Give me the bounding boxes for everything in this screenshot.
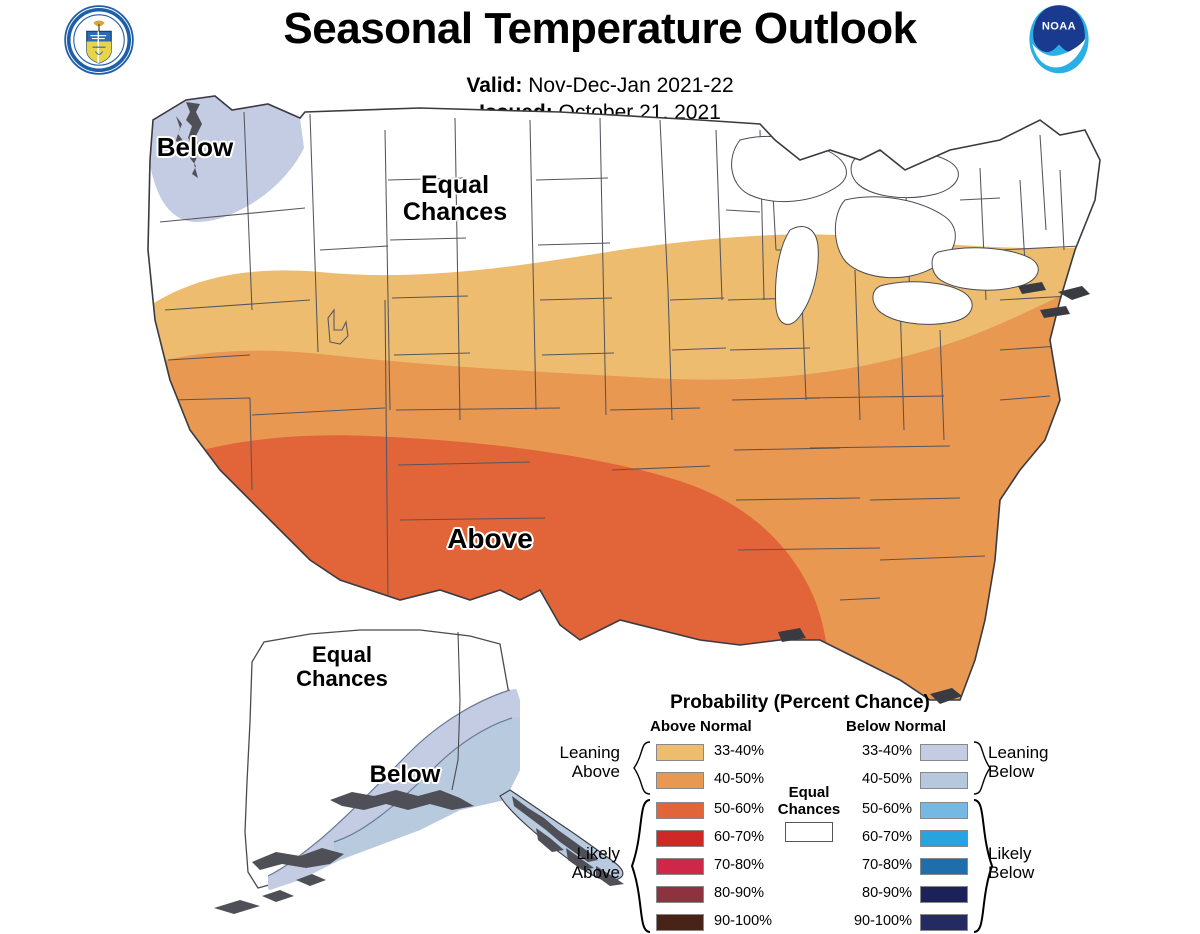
legend-swatch-above-50-60[interactable] [656, 802, 704, 819]
legend-range-below-33-40: 33-40% [850, 743, 912, 759]
legend-swatch-below-50-60[interactable] [920, 802, 968, 819]
legend-swatch-below-90-100[interactable] [920, 914, 968, 931]
legend-swatch-above-80-90[interactable] [656, 886, 704, 903]
legend-range-above-70-80: 70-80% [714, 857, 764, 873]
legend-swatch-below-70-80[interactable] [920, 858, 968, 875]
legend-range-below-60-70: 60-70% [850, 829, 912, 845]
legend-swatch-below-33-40[interactable] [920, 744, 968, 761]
legend-range-above-50-60: 50-60% [714, 801, 764, 817]
map-label-equal-chances-north: Equal Chances [380, 172, 530, 226]
legend-swatch-above-40-50[interactable] [656, 772, 704, 789]
legend-range-below-50-60: 50-60% [850, 801, 912, 817]
legend-bracket-likely-below [972, 798, 998, 934]
legend-heading-below-normal: Below Normal [846, 718, 946, 735]
outlook-map-page: NOAA Seasonal Temperature Outlook Valid:… [0, 0, 1200, 927]
legend-swatch-below-60-70[interactable] [920, 830, 968, 847]
legend-swatch-above-33-40[interactable] [656, 744, 704, 761]
map-label-equal-chances-alaska: Equal Chances [272, 643, 412, 691]
legend-swatch-above-70-80[interactable] [656, 858, 704, 875]
legend-range-below-40-50: 40-50% [850, 771, 912, 787]
legend-swatch-below-80-90[interactable] [920, 886, 968, 903]
legend-bracket-leaning-above [626, 740, 652, 796]
legend-bracket-label-likely-above: Likely Above [520, 844, 620, 882]
map-label-below-northwest: Below [140, 133, 250, 161]
legend-bracket-label-leaning-above: Leaning Above [520, 743, 620, 781]
legend-equal-chances-label: Equal Chances [765, 785, 853, 818]
legend: Probability (Percent Chance) Above Norma… [520, 692, 1080, 927]
legend-range-above-40-50: 40-50% [714, 771, 764, 787]
legend-swatch-below-40-50[interactable] [920, 772, 968, 789]
legend-heading-above-normal: Above Normal [650, 718, 752, 735]
legend-bracket-leaning-below [972, 740, 998, 796]
legend-title: Probability (Percent Chance) [520, 692, 1080, 714]
legend-bracket-label-likely-below: Likely Below [988, 844, 1088, 882]
map-label-below-alaska: Below [355, 762, 455, 788]
legend-range-above-60-70: 60-70% [714, 829, 764, 845]
legend-range-below-80-90: 80-90% [850, 885, 912, 901]
legend-swatch-above-60-70[interactable] [656, 830, 704, 847]
legend-range-above-80-90: 80-90% [714, 885, 764, 901]
legend-swatch-equal-chances[interactable] [785, 822, 833, 842]
map-label-above: Above [425, 524, 555, 554]
legend-bracket-likely-above [626, 798, 652, 934]
legend-range-above-33-40: 33-40% [714, 743, 764, 759]
legend-swatch-above-90-100[interactable] [656, 914, 704, 931]
legend-range-below-70-80: 70-80% [850, 857, 912, 873]
legend-bracket-label-leaning-below: Leaning Below [988, 743, 1088, 781]
